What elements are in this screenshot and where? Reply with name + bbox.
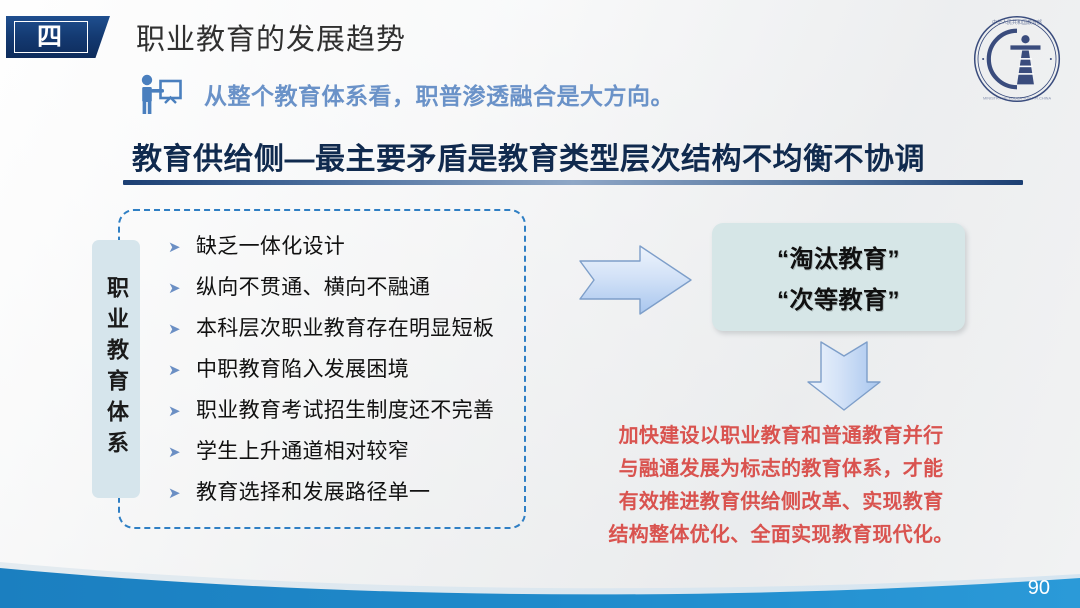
chevron-bullet-icon: ➤	[168, 437, 184, 467]
list-item-label: 职业教育考试招生制度还不完善	[196, 396, 494, 426]
chevron-bullet-icon: ➤	[168, 478, 184, 508]
chapter-badge-label: 四	[6, 16, 94, 58]
vertical-category-label-text: 职业教育体系	[105, 276, 127, 462]
section-heading: 教育供给侧—最主要矛盾是教育类型层次结构不均衡不协调	[132, 134, 925, 178]
page-number: 90	[1028, 577, 1050, 600]
chevron-bullet-icon: ➤	[168, 314, 184, 344]
chevron-bullet-icon: ➤	[168, 355, 184, 385]
teacher-presenter-icon	[136, 72, 184, 116]
chevron-bullet-icon: ➤	[168, 396, 184, 426]
list-item: ➤ 本科层次职业教育存在明显短板	[168, 314, 528, 347]
outcome-callout-box: “淘汰教育” “次等教育”	[712, 223, 965, 331]
list-item: ➤ 纵向不贯通、横向不融通	[168, 273, 528, 306]
svg-text:MINISTRY OF EDUCATION P.R.CHIN: MINISTRY OF EDUCATION P.R.CHINA	[983, 96, 1051, 100]
chevron-bullet-icon: ➤	[168, 232, 184, 262]
conclusion-line-1: 加快建设以职业教育和普通教育并行	[572, 420, 990, 453]
list-item-label: 学生上升通道相对较窄	[196, 437, 409, 467]
list-item: ➤ 职业教育考试招生制度还不完善	[168, 396, 528, 429]
slide-canvas: 四 职业教育的发展趋势 从整个教育体系看，职普渗透融合是大方向。	[0, 0, 1080, 608]
list-item-label: 缺乏一体化设计	[196, 232, 345, 262]
list-item-label: 本科层次职业教育存在明显短板	[196, 314, 494, 344]
conclusion-line-3: 有效推进教育供给侧改革、实现教育	[572, 486, 990, 519]
list-item-label: 教育选择和发展路径单一	[196, 478, 430, 508]
list-item: ➤ 学生上升通道相对较窄	[168, 437, 528, 470]
page-title: 职业教育的发展趋势	[136, 16, 406, 58]
subtitle-text: 从整个教育体系看，职普渗透融合是大方向。	[204, 77, 674, 111]
list-item: ➤ 中职教育陷入发展困境	[168, 355, 528, 388]
chapter-badge: 四	[6, 16, 110, 58]
list-item-label: 中职教育陷入发展困境	[196, 355, 409, 385]
svg-text:中华人民共和国教育部: 中华人民共和国教育部	[992, 19, 1042, 26]
conclusion-text: 加快建设以职业教育和普通教育并行 与融通发展为标志的教育体系，才能 有效推进教育…	[572, 420, 990, 552]
list-item: ➤ 教育选择和发展路径单一	[168, 478, 528, 511]
chevron-bullet-icon: ➤	[168, 273, 184, 303]
list-item-label: 纵向不贯通、横向不融通	[196, 273, 430, 303]
conclusion-line-2: 与融通发展为标志的教育体系，才能	[572, 453, 990, 486]
section-heading-underline	[123, 180, 1023, 185]
vertical-category-label: 职业教育体系	[92, 240, 140, 498]
outcome-line-1: “淘汰教育”	[777, 239, 900, 274]
subtitle-row: 从整个教育体系看，职普渗透融合是大方向。	[136, 72, 674, 116]
outcome-line-2: “次等教育”	[777, 280, 900, 315]
problem-bullet-list: ➤ 缺乏一体化设计 ➤ 纵向不贯通、横向不融通 ➤ 本科层次职业教育存在明显短板…	[168, 232, 528, 519]
list-item: ➤ 缺乏一体化设计	[168, 232, 528, 265]
